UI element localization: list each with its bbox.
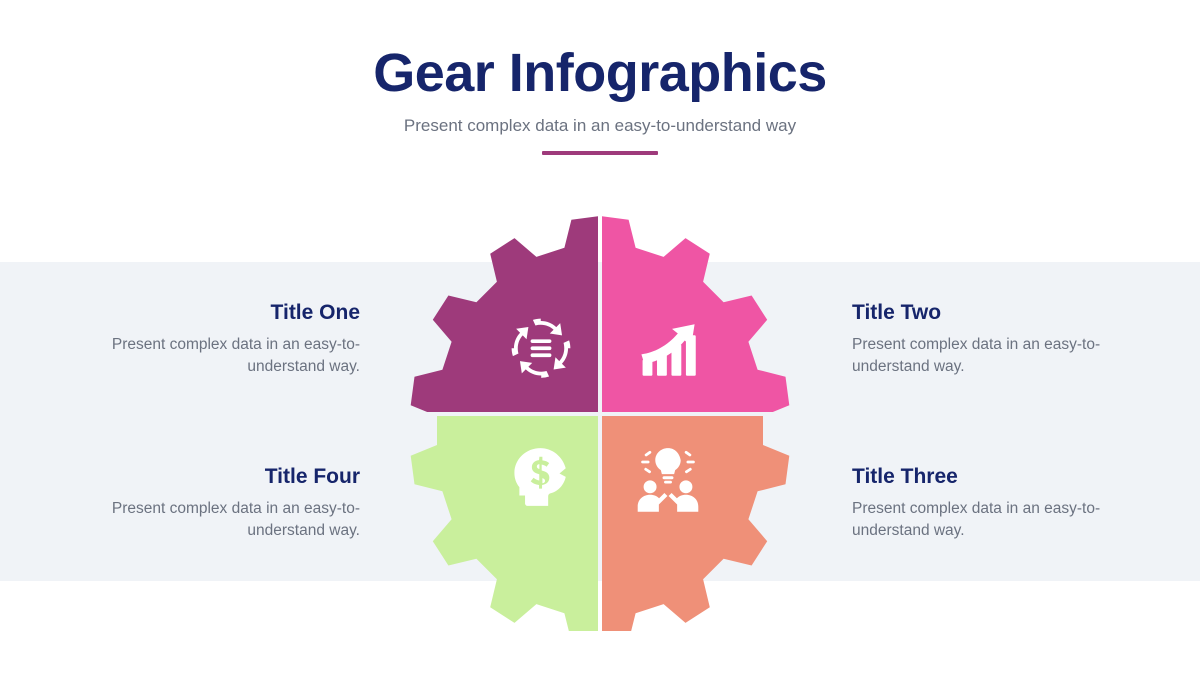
gear-diagram: [383, 197, 817, 631]
page-title: Gear Infographics: [0, 44, 1200, 102]
slide-canvas: Gear Infographics Present complex data i…: [0, 0, 1200, 675]
block-title-four: Title Four: [60, 464, 360, 489]
header: Gear Infographics Present complex data i…: [0, 44, 1200, 155]
block-body-one: Present complex data in an easy-to-under…: [60, 334, 360, 378]
title-divider: [542, 151, 658, 155]
page-subtitle: Present complex data in an easy-to-under…: [0, 116, 1200, 136]
text-block-one: Title One Present complex data in an eas…: [60, 300, 360, 378]
block-title-three: Title Three: [852, 464, 1152, 489]
block-body-two: Present complex data in an easy-to-under…: [852, 334, 1152, 378]
text-block-three: Title Three Present complex data in an e…: [852, 464, 1152, 542]
block-title-two: Title Two: [852, 300, 1152, 325]
block-title-one: Title One: [60, 300, 360, 325]
gear-svg: [383, 197, 817, 631]
block-body-four: Present complex data in an easy-to-under…: [60, 498, 360, 542]
block-body-three: Present complex data in an easy-to-under…: [852, 498, 1152, 542]
text-block-four: Title Four Present complex data in an ea…: [60, 464, 360, 542]
text-block-two: Title Two Present complex data in an eas…: [852, 300, 1152, 378]
